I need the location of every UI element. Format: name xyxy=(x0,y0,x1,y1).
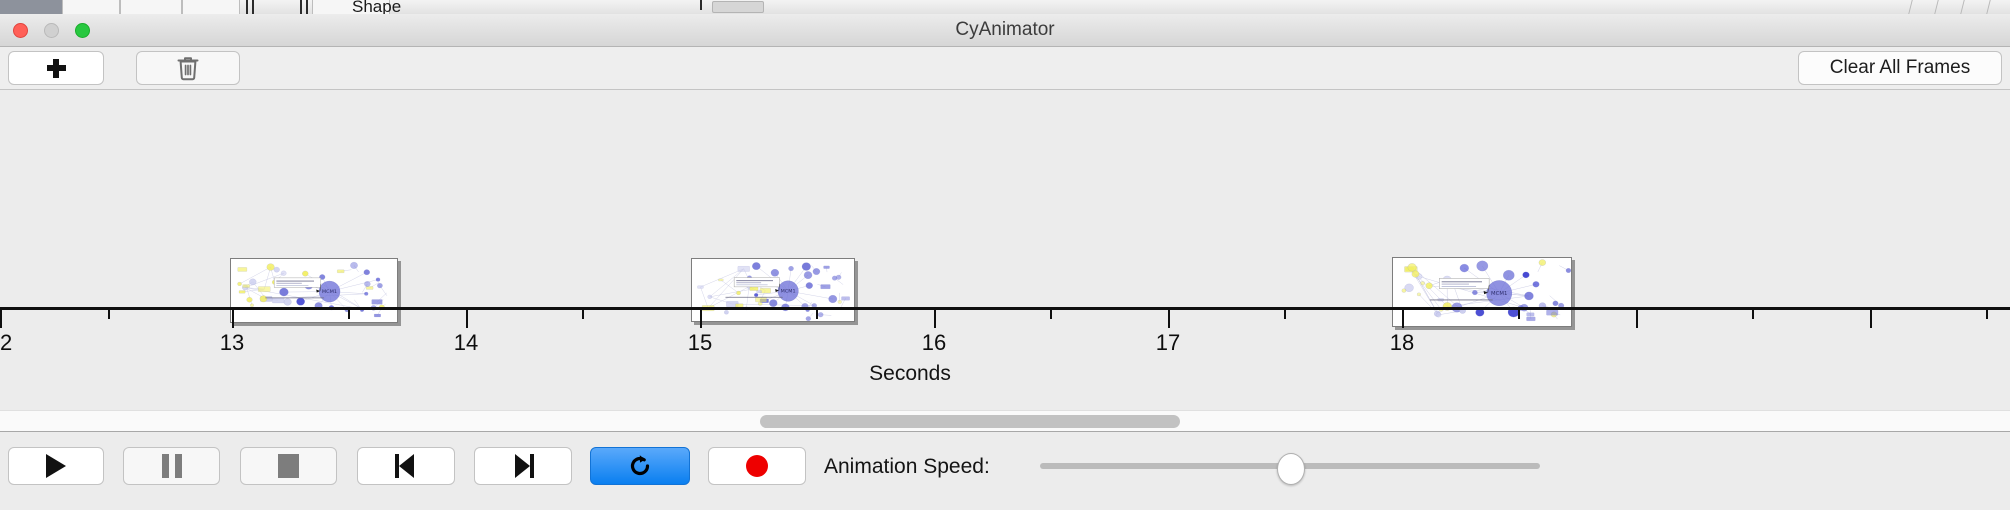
loop-icon xyxy=(627,453,653,479)
timeline-scrollbar[interactable] xyxy=(0,410,2010,432)
axis-tick-major xyxy=(700,310,702,328)
slider-thumb[interactable] xyxy=(1277,453,1305,485)
axis-tick-label: 14 xyxy=(454,330,478,356)
background-mark xyxy=(246,0,248,14)
timeline-axis xyxy=(0,307,2010,310)
pause-icon xyxy=(162,454,182,478)
axis-tick-minor xyxy=(1050,310,1052,319)
network-graph-preview: MCM1 xyxy=(692,259,854,321)
delete-frame-button[interactable] xyxy=(136,51,240,85)
title-bar[interactable]: CyAnimator xyxy=(0,14,2010,47)
axis-tick-label: 17 xyxy=(1156,330,1180,356)
axis-tick-label: 12 xyxy=(0,330,12,356)
axis-tick-major xyxy=(0,310,2,328)
stop-button[interactable] xyxy=(240,447,337,485)
background-mark xyxy=(700,0,702,10)
axis-tick-label: 13 xyxy=(220,330,244,356)
background-mark xyxy=(300,0,302,14)
axis-tick-minor xyxy=(1870,310,1872,319)
skip-back-button[interactable] xyxy=(357,447,455,485)
background-divider xyxy=(1934,0,1938,14)
axis-tick-major xyxy=(934,310,936,328)
axis-tick-label: 18 xyxy=(1390,330,1414,356)
network-graph-preview: MCM1 xyxy=(231,259,397,322)
axis-tick-minor xyxy=(1518,310,1520,319)
window-title: CyAnimator xyxy=(0,19,2010,41)
skip-back-icon xyxy=(394,454,418,478)
playback-control-bar: Animation Speed: xyxy=(0,433,2010,510)
skip-forward-button[interactable] xyxy=(474,447,572,485)
background-divider xyxy=(1908,0,1912,14)
axis-tick-major xyxy=(466,310,468,328)
background-scroll-thumb xyxy=(712,1,764,13)
background-mark xyxy=(306,0,308,14)
background-divider xyxy=(1960,0,1964,14)
background-tab xyxy=(62,0,120,14)
background-tab xyxy=(120,0,182,14)
record-icon xyxy=(746,455,768,477)
axis-tick-minor xyxy=(582,310,584,319)
axis-tick-label: 15 xyxy=(688,330,712,356)
timeline-panel[interactable]: MCM1 MCM1 MCM1 12131415161718 Seconds xyxy=(0,90,2010,410)
axis-tick-minor xyxy=(816,310,818,319)
animation-speed-slider[interactable] xyxy=(1040,447,1540,485)
axis-tick-minor xyxy=(1284,310,1286,319)
stop-icon xyxy=(278,454,299,478)
play-button[interactable] xyxy=(8,447,104,485)
axis-tick-minor xyxy=(1752,310,1754,319)
background-tab xyxy=(182,0,240,14)
axis-tick-minor xyxy=(1986,310,1988,319)
frame-thumbnail[interactable]: MCM1 xyxy=(230,258,398,323)
background-window-strip: Shape xyxy=(0,0,2010,15)
svg-text:MCM1: MCM1 xyxy=(322,289,337,295)
axis-tick-major xyxy=(1402,310,1404,328)
trash-icon xyxy=(176,55,200,81)
svg-text:MCM1: MCM1 xyxy=(781,289,796,295)
frame-thumbnail[interactable]: MCM1 xyxy=(1392,257,1572,327)
background-divider xyxy=(1986,0,1990,14)
toolbar: Clear All Frames xyxy=(0,47,2010,90)
clear-all-frames-button[interactable]: Clear All Frames xyxy=(1798,51,2002,85)
axis-tick-label: 16 xyxy=(922,330,946,356)
network-graph-preview: MCM1 xyxy=(1393,258,1571,326)
axis-title: Seconds xyxy=(869,362,951,386)
axis-tick-minor xyxy=(1636,310,1638,319)
pause-button[interactable] xyxy=(123,447,220,485)
axis-tick-minor xyxy=(108,310,110,319)
loop-button[interactable] xyxy=(590,447,690,485)
svg-text:MCM1: MCM1 xyxy=(1491,291,1507,297)
scrollbar-thumb[interactable] xyxy=(760,415,1180,428)
axis-tick-minor xyxy=(348,310,350,319)
background-dark-block xyxy=(0,0,62,14)
animation-speed-label: Animation Speed: xyxy=(824,455,990,479)
cyanimator-window: Shape CyAnimator Clear All Frames xyxy=(0,0,2010,510)
add-frame-button[interactable] xyxy=(8,51,104,85)
axis-tick-major xyxy=(232,310,234,328)
axis-tick-major xyxy=(1168,310,1170,328)
record-button[interactable] xyxy=(708,447,806,485)
skip-forward-icon xyxy=(511,454,535,478)
background-window-label: Shape xyxy=(352,0,401,15)
play-icon xyxy=(46,454,66,478)
background-mark xyxy=(252,0,254,14)
plus-icon xyxy=(47,59,66,78)
frame-thumbnail[interactable]: MCM1 xyxy=(691,258,855,322)
